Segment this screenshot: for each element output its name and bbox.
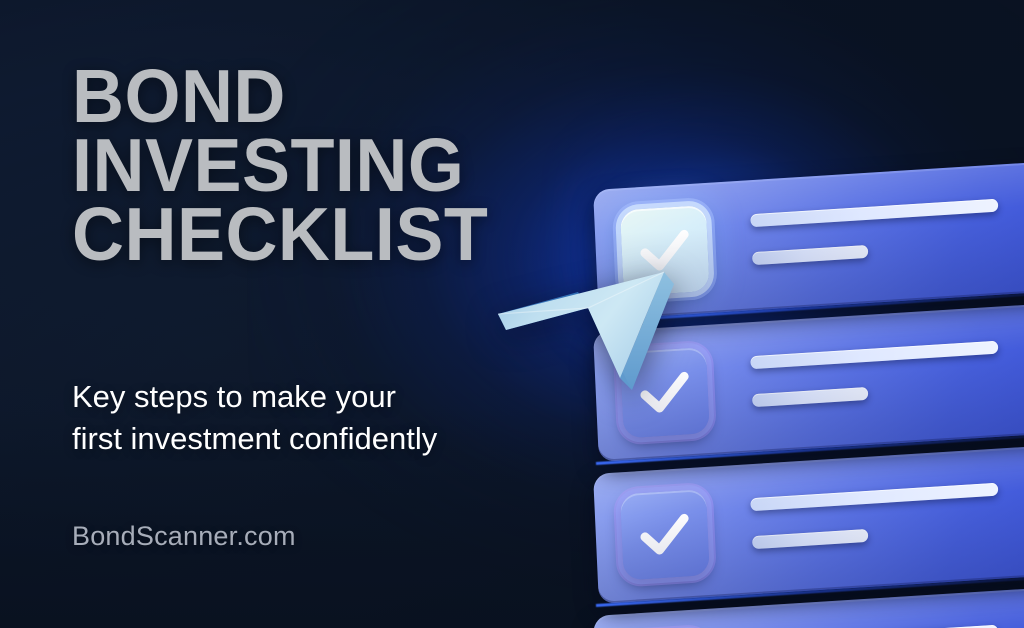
checklist-stack	[596, 168, 1024, 628]
text-bar-long	[750, 483, 998, 512]
text-bar-short	[752, 387, 868, 407]
page-title: BOND INVESTING CHECKLIST	[72, 62, 610, 269]
text-bar-short	[752, 529, 868, 549]
brand-label: BondScanner.com	[72, 521, 296, 552]
text-bar-short	[752, 245, 868, 265]
checkmark-icon	[637, 506, 693, 563]
cursor-arrow-icon	[496, 266, 706, 396]
checkbox[interactable]	[620, 489, 710, 580]
promo-banner: BOND INVESTING CHECKLIST Key steps to ma…	[0, 0, 1024, 628]
checklist-row[interactable]	[593, 445, 1024, 604]
text-bar-long	[750, 625, 998, 628]
text-bar-long	[750, 341, 998, 370]
text-bar-long	[750, 199, 998, 228]
